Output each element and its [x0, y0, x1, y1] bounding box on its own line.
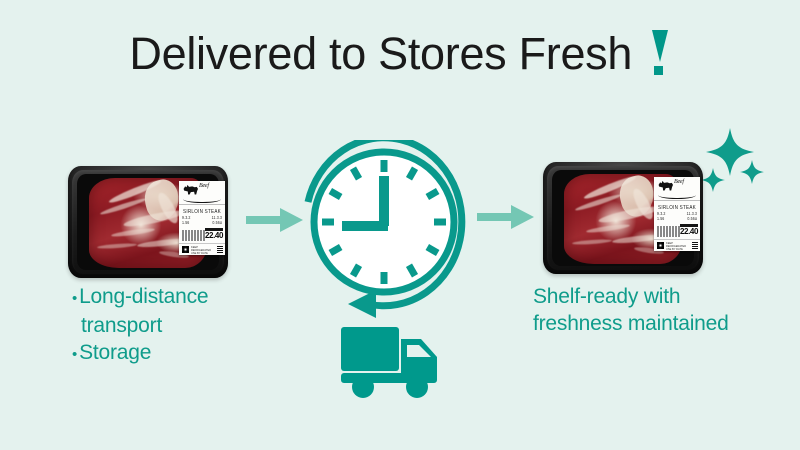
- barcode-icon: [657, 226, 680, 237]
- barcode-icon: [182, 230, 205, 241]
- exclamation-stem: [652, 30, 668, 62]
- marbling: [572, 239, 612, 246]
- label-row: 1.56 0.56α: [657, 217, 697, 222]
- label-row-right: 0.56α: [212, 220, 222, 227]
- meat-package-after: Beef SIRLOIN STEAK 9.3.2 11.3.3 1.56 0.5…: [543, 162, 703, 274]
- label-row: 1.56 0.56α: [182, 221, 222, 226]
- label-row-right: 0.56α: [687, 216, 697, 223]
- brand-script-text: Beef: [674, 179, 684, 185]
- sparkle-stars-icon: [694, 122, 770, 202]
- label-product-name: SIRLOIN STEAK: [654, 200, 700, 209]
- qr-code-icon: [182, 246, 189, 253]
- label-fine-print: KEEP REFRIGERATED USE BY DATE SHOWN: [666, 242, 688, 251]
- arrow-right-icon: [477, 202, 535, 232]
- label-product-name: SIRLOIN STEAK: [179, 204, 225, 213]
- logo-swoosh: [183, 195, 221, 203]
- caption-before: Long-distance transport Storage: [72, 283, 287, 368]
- label-data-rows: 9.3.2 11.3.3 1.56 0.56α: [654, 209, 700, 222]
- label-data-rows: 9.3.2 11.3.3 1.56 0.56α: [179, 213, 225, 226]
- product-label: Beef SIRLOIN STEAK 9.3.2 11.3.3 1.56 0.5…: [654, 177, 700, 251]
- caption-text: Shelf-ready with freshness maintained: [533, 283, 783, 337]
- infographic-canvas: Delivered to Stores Fresh: [0, 0, 800, 450]
- cow-silhouette-icon: [658, 180, 673, 191]
- logo-swoosh: [658, 191, 696, 199]
- product-label: Beef SIRLOIN STEAK 9.3.2 11.3.3 1.56 0.5…: [179, 181, 225, 255]
- label-price-area: 22.40: [654, 223, 700, 239]
- page-title: Delivered to Stores Fresh: [0, 26, 800, 82]
- marbling: [97, 243, 137, 250]
- meat-package-before: Beef SIRLOIN STEAK 9.3.2 11.3.3 1.56 0.5…: [68, 166, 228, 278]
- brand-script-text: Beef: [199, 183, 209, 189]
- exclamation-dot: [654, 66, 663, 75]
- delivery-truck-icon: [339, 325, 445, 399]
- caption-after: Shelf-ready with freshness maintained: [533, 283, 783, 337]
- caption-bullet: Long-distance transport: [72, 283, 287, 339]
- caption-bullet: Storage: [72, 339, 287, 368]
- label-footer: KEEP REFRIGERATED USE BY DATE SHOWN: [654, 239, 700, 250]
- label-price: 22.40: [680, 227, 698, 236]
- page-title-text: Delivered to Stores Fresh: [129, 26, 632, 82]
- exclamation-mark-icon: [649, 30, 671, 74]
- label-row-left: 1.56: [657, 216, 664, 223]
- label-fine-print: KEEP REFRIGERATED USE BY DATE SHOWN: [191, 246, 213, 255]
- label-row-left: 1.56: [182, 220, 189, 227]
- marbling: [111, 227, 155, 238]
- label-footer: KEEP REFRIGERATED USE BY DATE SHOWN: [179, 243, 225, 254]
- qr-code-icon: [692, 242, 698, 249]
- label-logo-area: Beef: [179, 181, 225, 205]
- qr-code-icon: [217, 246, 223, 253]
- label-logo-area: Beef: [654, 177, 700, 201]
- cow-silhouette-icon: [183, 184, 198, 195]
- marbling: [586, 223, 630, 234]
- label-price-area: 22.40: [179, 227, 225, 243]
- qr-code-icon: [657, 242, 664, 249]
- clock-with-rotation-arrow-icon: [296, 140, 472, 320]
- label-price: 22.40: [205, 231, 223, 240]
